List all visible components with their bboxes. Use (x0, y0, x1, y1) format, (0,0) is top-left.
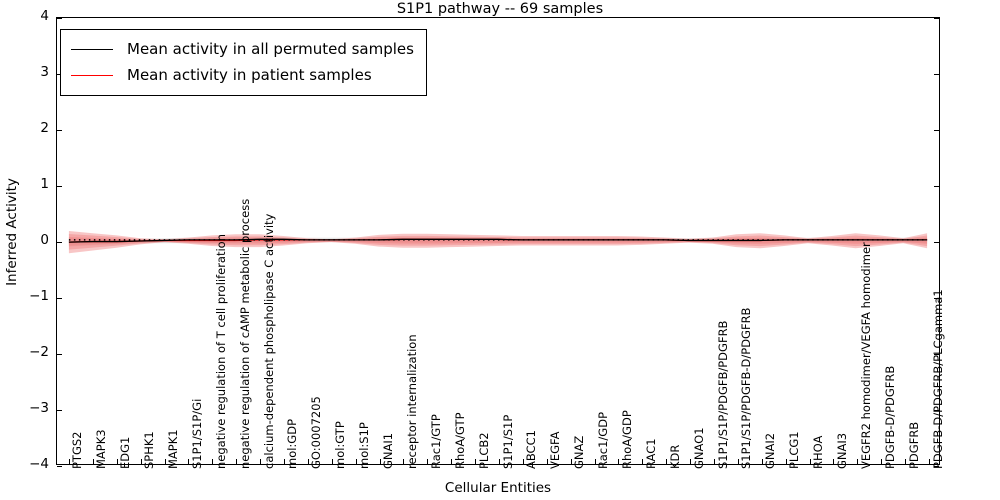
x-axis-tick-label: PDGFB-D/PDGFRB (885, 366, 897, 469)
x-axis-tick-mark (690, 459, 691, 464)
y-axis-tick-label: 0 (40, 232, 49, 248)
x-axis-tick-label: GNAI3 (837, 433, 849, 469)
x-axis-tick-label: PDGFRB (909, 422, 921, 469)
y-axis-tick-label: −1 (29, 288, 49, 304)
x-axis-tick-label: EDG1 (120, 437, 132, 469)
y-axis-tick-mark (57, 242, 62, 243)
x-axis-tick-label: SPHK1 (144, 431, 156, 469)
x-axis-tick-label: PDGFB-D/PDGFRB/PLCgamma1 (933, 289, 945, 469)
y-axis-tick-label: 2 (40, 120, 49, 136)
x-axis-tick-label: S1P1/S1P/Gi (192, 399, 204, 469)
x-axis-tick-label: RAC1 (646, 438, 658, 469)
chart-page: S1P1 pathway -- 69 samples Inferred Acti… (0, 0, 1000, 500)
x-axis-tick-label: GO:0007205 (311, 396, 323, 469)
x-axis-tick-label: KDR (670, 445, 682, 469)
x-axis-tick-label: RhoA/GDP (622, 410, 634, 469)
x-axis-tick-label: mol:GDP (287, 419, 299, 469)
x-axis-label: Cellular Entities (56, 480, 940, 496)
y-axis-tick-mark (934, 130, 939, 131)
y-axis-tick-mark (57, 466, 62, 467)
x-axis-tick-label: negative regulation of cAMP metabolic pr… (240, 199, 252, 469)
y-axis-tick-mark (934, 186, 939, 187)
y-axis-tick-label: −3 (29, 400, 49, 416)
x-axis-tick-label: PLCB2 (479, 432, 491, 469)
legend-label: Mean activity in patient samples (127, 66, 372, 84)
x-axis-tick-label: Rac1/GTP (431, 414, 443, 469)
y-axis-tick-label: 1 (40, 176, 49, 192)
x-axis-tick-label: mol:GTP (335, 421, 347, 469)
x-axis-tick-mark (929, 459, 930, 464)
legend-line-icon (71, 49, 113, 50)
legend-line-icon (71, 75, 113, 76)
x-axis-tick-label: GNAZ (574, 436, 586, 469)
x-axis-tick-label: RhoA/GTP (455, 412, 467, 469)
y-axis-tick-mark (57, 186, 62, 187)
x-axis-tick-label: GNAI1 (383, 433, 395, 469)
y-axis-tick-label: 4 (40, 8, 49, 24)
x-axis-tick-mark (905, 459, 906, 464)
x-axis-tick-label: VEGFA (550, 432, 562, 469)
y-axis-tick-mark (57, 18, 62, 19)
legend-label: Mean activity in all permuted samples (127, 40, 414, 58)
x-axis-tick-label: mol:S1P (359, 422, 371, 469)
page-title: S1P1 pathway -- 69 samples (0, 0, 1000, 18)
y-axis-tick-label: −2 (29, 344, 49, 360)
x-axis-tick-label: RHOA (813, 436, 825, 469)
legend-item[interactable]: Mean activity in all permuted samples (71, 36, 414, 62)
y-axis-tick-mark (57, 130, 62, 131)
x-axis-tick-mark (475, 459, 476, 464)
y-axis-tick-mark (57, 354, 62, 355)
x-axis-tick-label: Rac1/GDP (598, 412, 610, 469)
x-axis-tick-label: ABCC1 (526, 430, 538, 469)
x-axis-tick-label: MAPK1 (168, 429, 180, 469)
x-axis-tick-mark (499, 459, 500, 464)
x-axis-tick-label: VEGFR2 homodimer/VEGFA homodimer (861, 242, 873, 469)
x-axis-tick-label: S1P1/S1P/PDGFB/PDGFRB (718, 321, 730, 469)
y-axis-tick-label: −4 (29, 456, 49, 472)
x-axis-tick-label: receptor internalization (407, 334, 419, 469)
legend-item[interactable]: Mean activity in patient samples (71, 62, 414, 88)
x-axis-tick-label: PLCG1 (789, 431, 801, 469)
y-axis-tick-mark (57, 410, 62, 411)
x-axis-tick-label: calcium-dependent phospholipase C activi… (264, 214, 276, 469)
x-axis-tick-label: negative regulation of T cell proliferat… (216, 234, 228, 469)
x-axis-tick-label: S1P1/S1P/PDGFB-D/PDGFRB (741, 308, 753, 469)
y-axis-tick-mark (934, 242, 939, 243)
x-axis-tick-label: S1P1/S1P (503, 415, 515, 469)
y-axis-tick-label: 3 (40, 64, 49, 80)
y-axis-tick-mark (934, 18, 939, 19)
x-axis-tick-mark (714, 459, 715, 464)
x-axis-tick-label: GNAI2 (765, 433, 777, 469)
y-axis-tick-mark (934, 74, 939, 75)
y-axis-tick-mark (57, 298, 62, 299)
x-axis-tick-label: PTGS2 (72, 432, 84, 470)
y-axis-label: Inferred Activity (4, 8, 20, 456)
legend: Mean activity in all permuted samplesMea… (60, 29, 427, 96)
x-axis-tick-label: GNAO1 (694, 427, 706, 469)
x-axis-tick-mark (260, 459, 261, 464)
x-axis-tick-label: MAPK3 (96, 429, 108, 469)
